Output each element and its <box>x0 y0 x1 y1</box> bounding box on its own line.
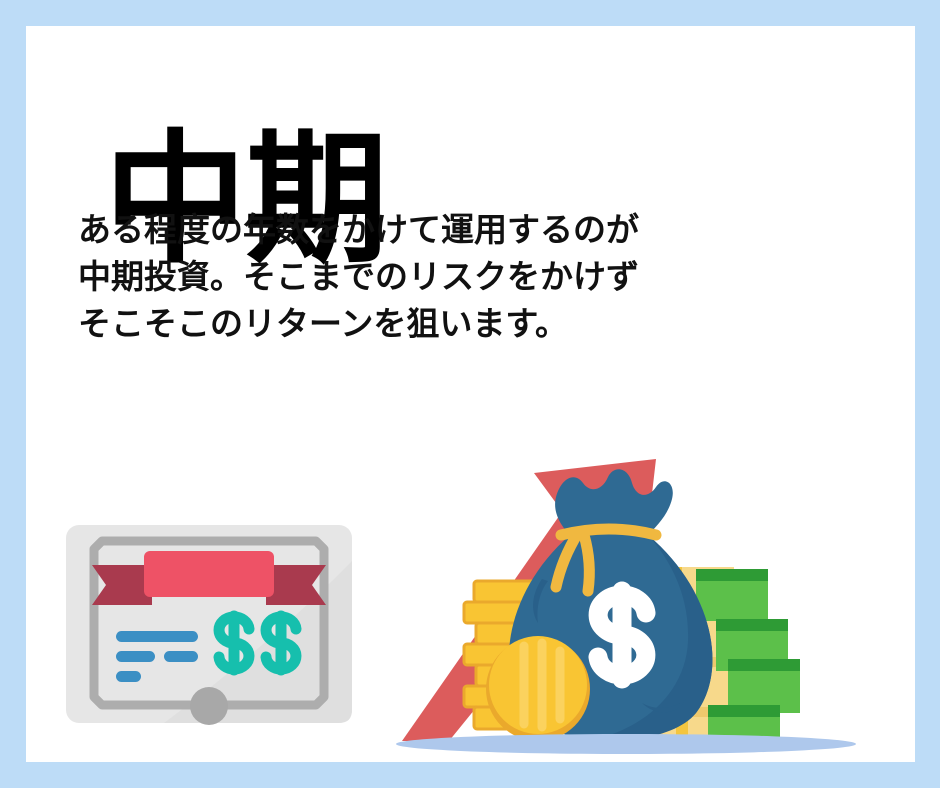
paragraph-line-2: 中期投資。そこまでのリスクをかけず <box>78 253 718 300</box>
certificate-seal-icon <box>190 687 228 725</box>
paragraph-line-1: ある程度の年数をかけて運用するのが <box>78 206 718 253</box>
ground-shadow <box>396 734 856 754</box>
bag-dollar-icon <box>598 591 646 679</box>
paragraph-line-3: そこそこのリターンを狙います。 <box>78 300 718 347</box>
certificate-illustration <box>64 521 354 736</box>
content-card: 中期 ある程度の年数をかけて運用するのが 中期投資。そこまでのリスクをかけず そ… <box>26 26 915 762</box>
money-growth-illustration <box>356 441 901 761</box>
description-paragraph: ある程度の年数をかけて運用するのが 中期投資。そこまでのリスクをかけず そこそこ… <box>78 206 718 347</box>
